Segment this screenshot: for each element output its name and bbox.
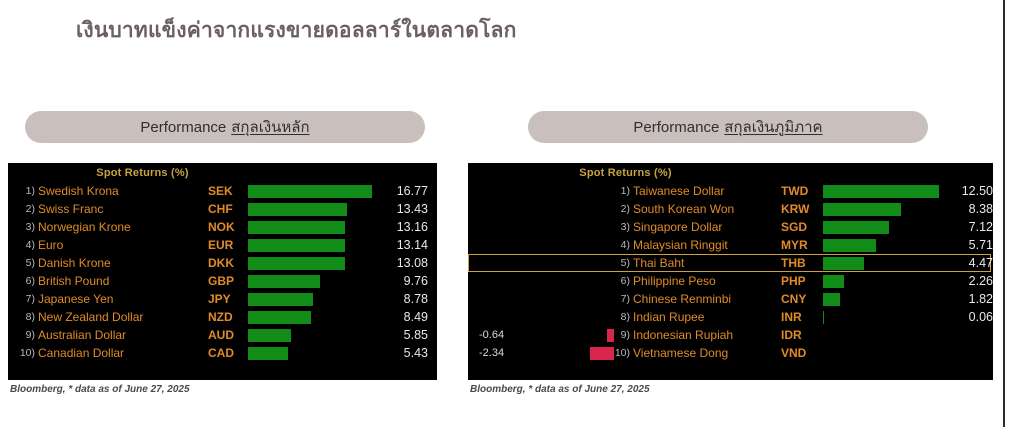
row-rank: 9)	[19, 329, 38, 341]
table-row[interactable]: -2.3410)Vietnamese DongVND	[468, 344, 991, 362]
spot-returns-panel-major-currencies: Spot Returns (%) 1)Swedish KronaSEK16.77…	[8, 163, 437, 380]
currency-name: Indian Rupee	[633, 310, 781, 324]
table-row[interactable]: 2)South Korean WonKRW8.38	[468, 200, 991, 218]
positive-bar-track	[823, 201, 943, 217]
currency-ticker: PHP	[781, 274, 823, 288]
positive-bar	[823, 293, 840, 306]
positive-bar-track	[248, 201, 376, 217]
value-label: 9.76	[376, 274, 432, 288]
positive-bar	[248, 185, 372, 198]
negative-bar	[607, 329, 614, 342]
positive-bar-track	[248, 237, 376, 253]
positive-bar	[248, 221, 345, 234]
currency-ticker: CAD	[208, 346, 248, 360]
row-rank: 5)	[19, 257, 38, 269]
source-caption: Bloomberg, * data as of June 27, 2025	[10, 384, 190, 395]
negative-bar-track	[539, 219, 614, 235]
positive-bar	[823, 239, 876, 252]
currency-name: Chinese Renminbi	[633, 292, 781, 306]
value-label: 13.16	[376, 220, 432, 234]
row-rank: 2)	[614, 203, 633, 215]
value-label: 1.82	[943, 292, 993, 306]
table-row[interactable]: 1)Swedish KronaSEK16.77	[18, 182, 428, 200]
currency-name: Swiss Franc	[38, 202, 208, 216]
positive-bar-track	[248, 219, 376, 235]
currency-ticker: MYR	[781, 238, 823, 252]
currency-ticker: TWD	[781, 184, 823, 198]
positive-bar-track	[823, 345, 943, 361]
pill-link-label[interactable]: สกุลเงินหลัก	[231, 115, 309, 139]
table-row[interactable]: 6)Philippine PesoPHP2.26	[468, 272, 991, 290]
negative-bar	[590, 347, 614, 360]
currency-name: Vietnamese Dong	[633, 346, 781, 360]
table-row[interactable]: 7)Japanese YenJPY8.78	[18, 290, 428, 308]
positive-bar	[823, 257, 864, 270]
pill-link-label[interactable]: สกุลเงินภูมิภาค	[724, 115, 822, 139]
table-row[interactable]: 8)New Zealand DollarNZD8.49	[18, 308, 428, 326]
negative-bar-track	[539, 237, 614, 253]
positive-bar-track	[248, 327, 376, 343]
value-label: 12.50	[943, 184, 993, 198]
row-rank: 8)	[614, 311, 633, 323]
positive-bar-track	[248, 183, 376, 199]
positive-bar	[823, 275, 844, 288]
table-row[interactable]: 10)Canadian DollarCAD5.43	[18, 344, 428, 362]
row-rank: 2)	[19, 203, 38, 215]
value-label: 13.14	[376, 238, 432, 252]
negative-bar-track	[539, 255, 614, 271]
table-row[interactable]: -0.649)Indonesian RupiahIDR	[468, 326, 991, 344]
currency-name: Thai Baht	[633, 256, 781, 270]
table-row[interactable]: 4)EuroEUR13.14	[18, 236, 428, 254]
currency-ticker: NOK	[208, 220, 248, 234]
table-row[interactable]: 5)Danish KroneDKK13.08	[18, 254, 428, 272]
negative-bar-track	[539, 345, 614, 361]
currency-name: Canadian Dollar	[38, 346, 208, 360]
table-row[interactable]: 3)Singapore DollarSGD7.12	[468, 218, 991, 236]
value-label: 5.43	[376, 346, 432, 360]
spot-returns-panel-regional-currencies: Spot Returns (%) 1)Taiwanese DollarTWD12…	[468, 163, 993, 380]
currency-name: Australian Dollar	[38, 328, 208, 342]
pill-prefix-label: Performance	[140, 119, 226, 136]
row-rank: 6)	[614, 275, 633, 287]
positive-bar-track	[248, 255, 376, 271]
table-row[interactable]: 1)Taiwanese DollarTWD12.50	[468, 182, 991, 200]
table-row[interactable]: 7)Chinese RenminbiCNY1.82	[468, 290, 991, 308]
currency-ticker: EUR	[208, 238, 248, 252]
positive-bar-track	[823, 183, 943, 199]
slide-right-edge-rule	[1003, 0, 1005, 427]
positive-bar-track	[823, 291, 943, 307]
currency-name: Indonesian Rupiah	[633, 328, 781, 342]
positive-bar-track	[248, 309, 376, 325]
currency-name: Danish Krone	[38, 256, 208, 270]
performance-pill-major-currencies[interactable]: Performance สกุลเงินหลัก	[25, 111, 425, 143]
negative-bar-track	[539, 327, 614, 343]
negative-bar-track	[539, 291, 614, 307]
positive-bar-track	[823, 255, 943, 271]
positive-bar-track	[823, 237, 943, 253]
negative-value-label: -0.64	[469, 329, 539, 341]
row-rank: 1)	[19, 185, 38, 197]
positive-bar-track	[823, 273, 943, 289]
value-label: 8.49	[376, 310, 432, 324]
positive-bar	[823, 185, 939, 198]
positive-bar-track	[823, 327, 943, 343]
currency-ticker: GBP	[208, 274, 248, 288]
performance-pill-regional-currencies[interactable]: Performance สกุลเงินภูมิภาค	[528, 111, 928, 143]
currency-ticker: SEK	[208, 184, 248, 198]
value-label: 0.06	[943, 310, 993, 324]
table-row[interactable]: 3)Norwegian KroneNOK13.16	[18, 218, 428, 236]
value-label: 5.85	[376, 328, 432, 342]
currency-name: Singapore Dollar	[633, 220, 781, 234]
value-label: 2.26	[943, 274, 993, 288]
currency-ticker: THB	[781, 256, 823, 270]
currency-name: New Zealand Dollar	[38, 310, 208, 324]
positive-bar	[248, 239, 345, 252]
currency-ticker: VND	[781, 346, 823, 360]
row-rank: 7)	[614, 293, 633, 305]
value-label: 8.38	[943, 202, 993, 216]
negative-bar-track	[539, 273, 614, 289]
table-row[interactable]: 8)Indian RupeeINR0.06	[468, 308, 991, 326]
row-rank: 8)	[19, 311, 38, 323]
positive-bar	[248, 311, 311, 324]
row-rank: 10)	[19, 347, 38, 359]
positive-bar	[823, 221, 889, 234]
negative-bar-track	[539, 309, 614, 325]
positive-bar-track	[248, 273, 376, 289]
positive-bar	[248, 347, 288, 360]
table-row[interactable]: 6)British PoundGBP9.76	[18, 272, 428, 290]
value-label: 5.71	[943, 238, 993, 252]
value-label: 8.78	[376, 292, 432, 306]
currency-name: Swedish Krona	[38, 184, 208, 198]
row-rank: 3)	[614, 221, 633, 233]
row-rank: 4)	[19, 239, 38, 251]
row-rank: 5)	[614, 257, 633, 269]
row-rank: 1)	[614, 185, 633, 197]
source-caption: Bloomberg, * data as of June 27, 2025	[470, 384, 650, 395]
table-row[interactable]: 2)Swiss FrancCHF13.43	[18, 200, 428, 218]
positive-bar-track	[823, 309, 943, 325]
positive-bar-track	[248, 291, 376, 307]
negative-value-label: -2.34	[469, 347, 539, 359]
currency-ticker: INR	[781, 310, 823, 324]
row-rank: 6)	[19, 275, 38, 287]
currency-ticker: DKK	[208, 256, 248, 270]
positive-bar	[823, 203, 901, 216]
currency-ticker: IDR	[781, 328, 823, 342]
currency-ticker: AUD	[208, 328, 248, 342]
panel-title: Spot Returns (%)	[468, 163, 993, 182]
currency-name: Euro	[38, 238, 208, 252]
value-label: 13.08	[376, 256, 432, 270]
row-rank: 9)	[614, 329, 633, 341]
negative-bar-track	[539, 201, 614, 217]
currency-ticker: CHF	[208, 202, 248, 216]
currency-name: Japanese Yen	[38, 292, 208, 306]
table-row[interactable]: 9)Australian DollarAUD5.85	[18, 326, 428, 344]
currency-name: British Pound	[38, 274, 208, 288]
spot-returns-row-list: 1)Swedish KronaSEK16.772)Swiss FrancCHF1…	[8, 182, 437, 362]
panel-title: Spot Returns (%)	[8, 163, 437, 182]
currency-name: Philippine Peso	[633, 274, 781, 288]
pill-prefix-label: Performance	[633, 119, 719, 136]
positive-bar	[248, 329, 291, 342]
currency-ticker: KRW	[781, 202, 823, 216]
currency-name: Malaysian Ringgit	[633, 238, 781, 252]
negative-bar-track	[539, 183, 614, 199]
currency-name: South Korean Won	[633, 202, 781, 216]
positive-bar-track	[823, 219, 943, 235]
currency-ticker: JPY	[208, 292, 248, 306]
value-label: 7.12	[943, 220, 993, 234]
spot-returns-row-list: 1)Taiwanese DollarTWD12.502)South Korean…	[468, 182, 993, 362]
positive-bar	[248, 203, 347, 216]
positive-bar	[823, 311, 824, 324]
currency-name: Taiwanese Dollar	[633, 184, 781, 198]
currency-ticker: SGD	[781, 220, 823, 234]
positive-bar	[248, 275, 320, 288]
positive-bar	[248, 257, 345, 270]
table-row[interactable]: 4)Malaysian RinggitMYR5.71	[468, 236, 991, 254]
row-rank: 3)	[19, 221, 38, 233]
page-title: เงินบาทแข็งค่าจากแรงขายดอลลาร์ในตลาดโลก	[76, 14, 517, 47]
row-rank: 10)	[614, 347, 633, 359]
value-label: 4.47	[943, 256, 993, 270]
positive-bar-track	[248, 345, 376, 361]
value-label: 13.43	[376, 202, 432, 216]
currency-name: Norwegian Krone	[38, 220, 208, 234]
row-rank: 7)	[19, 293, 38, 305]
positive-bar	[248, 293, 313, 306]
currency-ticker: NZD	[208, 310, 248, 324]
row-rank: 4)	[614, 239, 633, 251]
currency-ticker: CNY	[781, 292, 823, 306]
value-label: 16.77	[376, 184, 432, 198]
table-row[interactable]: 5)Thai BahtTHB4.47	[468, 254, 991, 272]
